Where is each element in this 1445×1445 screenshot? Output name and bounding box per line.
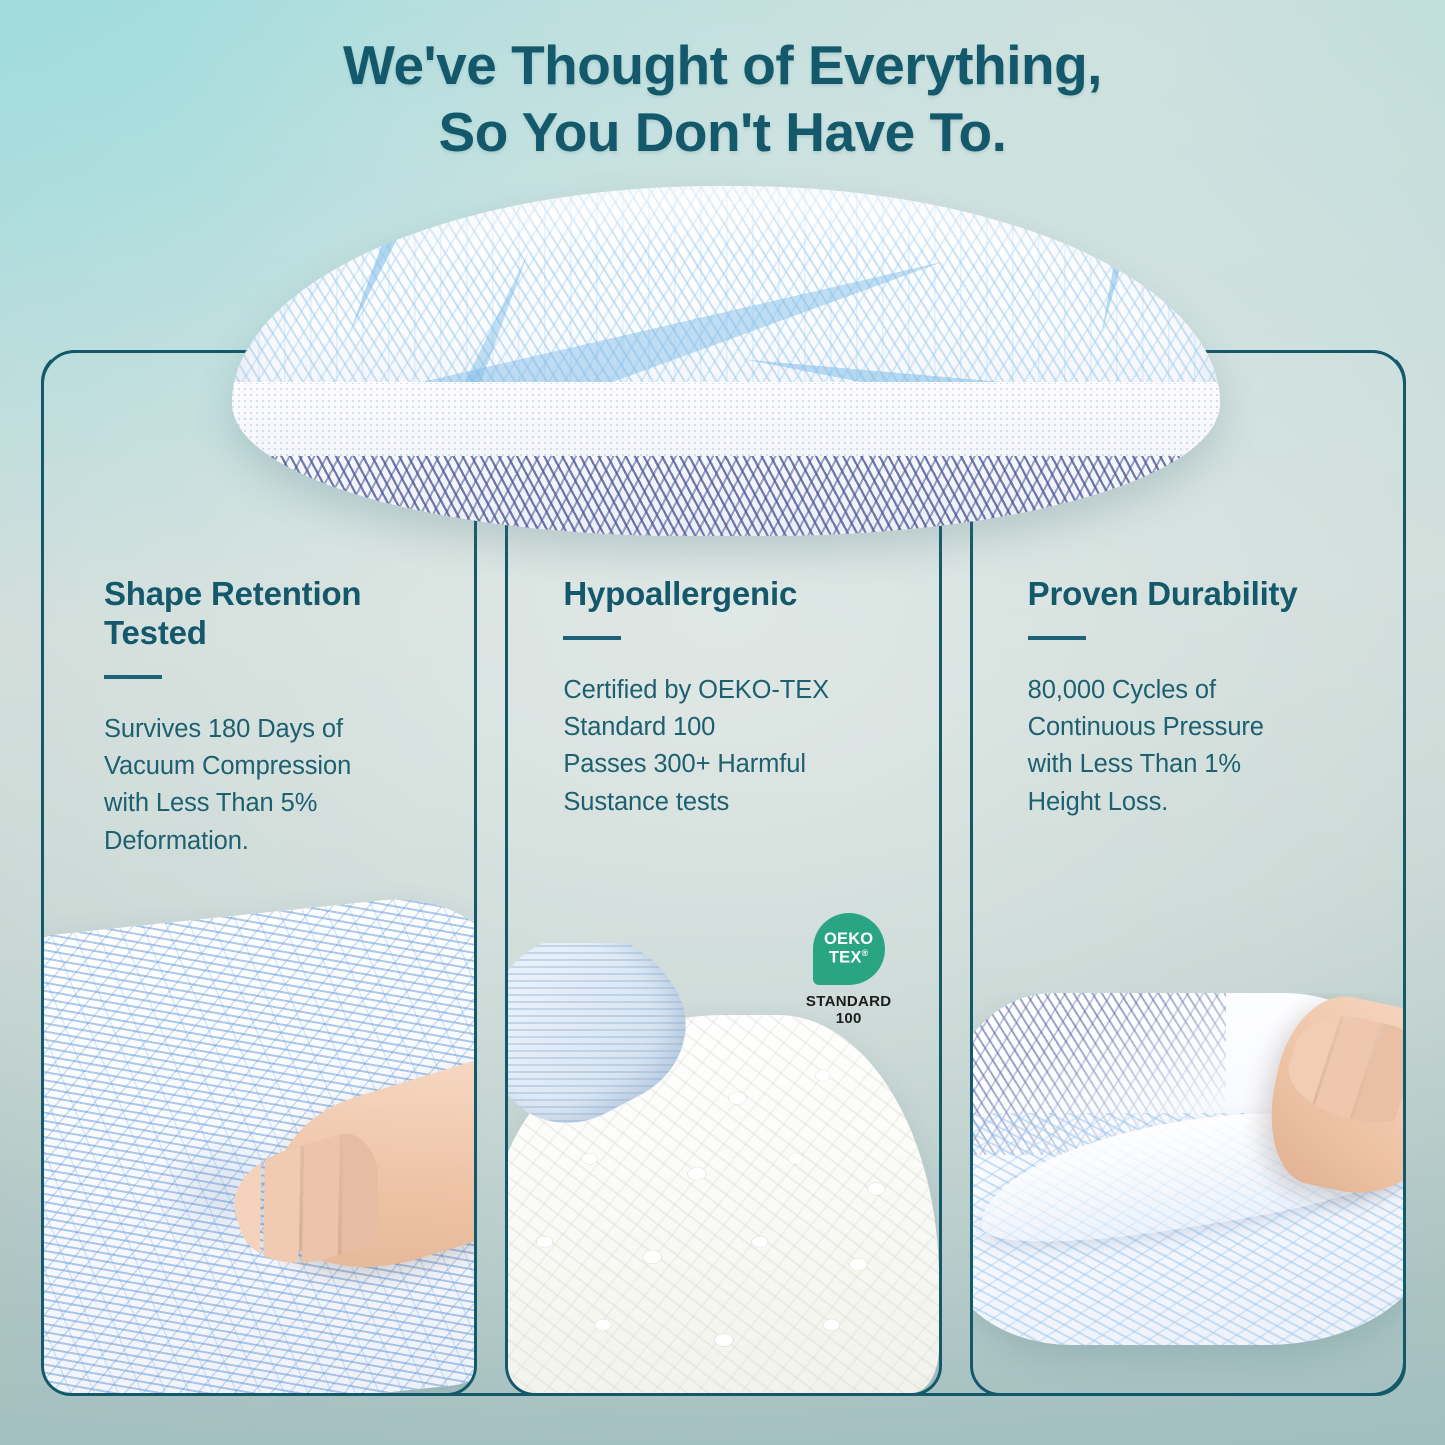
column-body: Survives 180 Days of Vacuum Compression … bbox=[104, 711, 440, 860]
durability-photo bbox=[973, 993, 1403, 1393]
headline-line-2: So You Don't Have To. bbox=[0, 99, 1445, 166]
column-body: 80,000 Cycles of Continuous Pressure wit… bbox=[1028, 672, 1369, 821]
hero-pillow-image bbox=[232, 186, 1220, 536]
oeko-tex-leaf-icon: OEKO TEX® bbox=[813, 913, 885, 985]
column-title: Proven Durability bbox=[1028, 575, 1358, 614]
column-title: Hypoallergenic bbox=[563, 575, 893, 614]
oeko-badge-line-2: TEX® bbox=[829, 949, 869, 967]
oeko-tex-badge: OEKO TEX® STANDARD 100 bbox=[803, 913, 895, 1028]
page-headline: We've Thought of Everything, So You Don'… bbox=[0, 32, 1445, 166]
title-accent-rule bbox=[563, 636, 621, 640]
oeko-badge-line-1: OEKO bbox=[824, 931, 873, 948]
column-title: Shape Retention Tested bbox=[104, 575, 434, 653]
column-body: Certified by OEKO-TEX Standard 100 Passe… bbox=[563, 672, 904, 821]
squeezing-hand-knuckles bbox=[1281, 1006, 1403, 1134]
headline-line-1: We've Thought of Everything, bbox=[343, 34, 1102, 96]
oeko-standard-label: STANDARD 100 bbox=[803, 993, 895, 1028]
pillow-mesh-gusset bbox=[232, 382, 1220, 459]
pillow-top-triangle-pattern bbox=[232, 193, 1220, 389]
registered-trademark-icon: ® bbox=[862, 948, 869, 958]
title-accent-rule bbox=[104, 675, 162, 679]
shape-retention-photo bbox=[44, 883, 474, 1393]
pillow-body bbox=[232, 186, 1220, 536]
oeko-standard-line-1: STANDARD bbox=[803, 993, 895, 1010]
oeko-standard-line-2: 100 bbox=[803, 1010, 895, 1027]
pillow-bottom-knit-pattern bbox=[232, 456, 1220, 537]
title-accent-rule bbox=[1028, 636, 1086, 640]
